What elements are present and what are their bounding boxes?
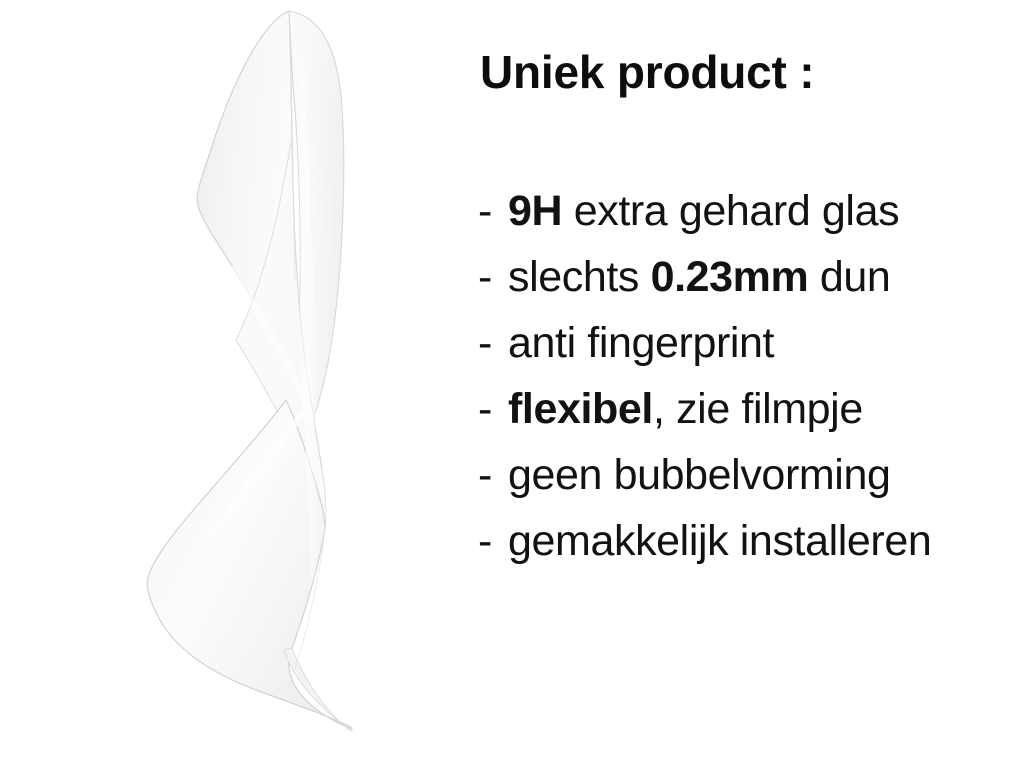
list-bullet: - <box>478 310 508 376</box>
product-image <box>0 0 470 768</box>
list-bullet: - <box>478 508 508 574</box>
list-item: -gemakkelijk installeren <box>478 508 1024 574</box>
list-bullet: - <box>478 178 508 244</box>
page-title: Uniek product : <box>480 49 814 95</box>
list-item-label: gemakkelijk installeren <box>508 517 931 565</box>
list-item: -geen bubbelvorming <box>478 442 1024 508</box>
list-item: -9H extra gehard glas <box>478 178 1024 244</box>
list-item-emphasis: flexibel <box>508 385 653 433</box>
product-text-column: Uniek product : -9H extra gehard glas -s… <box>478 0 1024 768</box>
list-item: -flexibel, zie filmpje <box>478 376 1024 442</box>
list-item-emphasis: 0.23mm <box>651 253 809 301</box>
list-item-emphasis: 9H <box>508 187 562 235</box>
list-item-label: , zie filmpje <box>653 385 863 433</box>
list-item-label: anti fingerprint <box>508 319 774 367</box>
list-item-label: geen bubbelvorming <box>508 451 890 499</box>
list-bullet: - <box>478 442 508 508</box>
list-item-prefix: slechts <box>508 253 651 301</box>
product-infographic: Uniek product : -9H extra gehard glas -s… <box>0 0 1024 768</box>
list-item: -anti fingerprint <box>478 310 1024 376</box>
list-bullet: - <box>478 376 508 442</box>
list-item-label: dun <box>808 253 890 301</box>
list-item: -slechts 0.23mm dun <box>478 244 1024 310</box>
list-item-label: extra gehard glas <box>562 187 899 235</box>
feature-list: -9H extra gehard glas -slechts 0.23mm du… <box>478 178 1024 574</box>
list-bullet: - <box>478 244 508 310</box>
